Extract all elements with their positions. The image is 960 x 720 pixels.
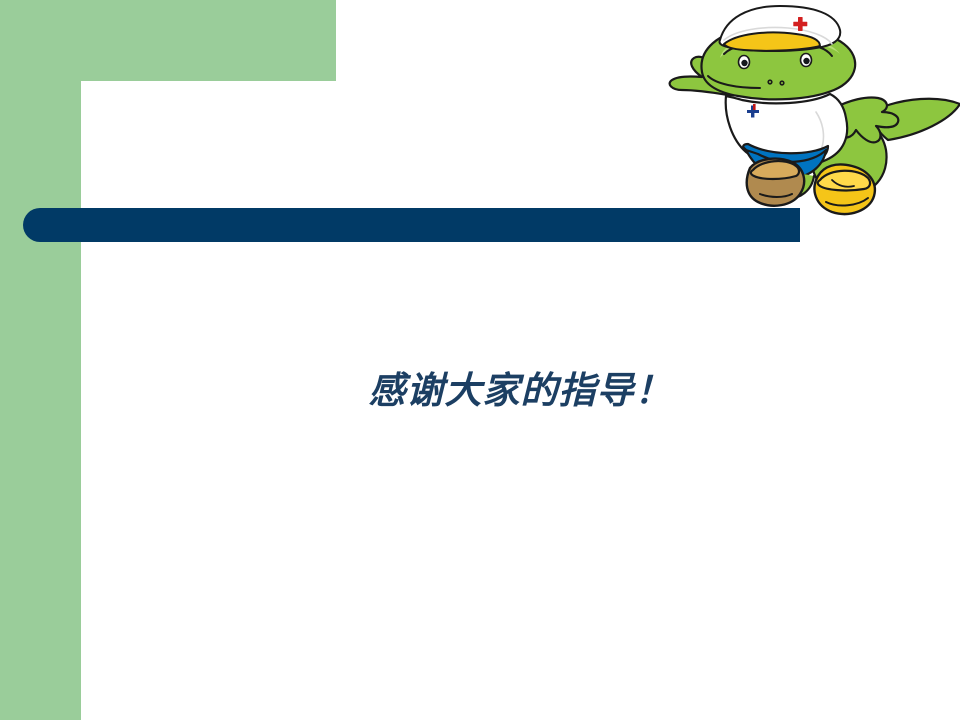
presentation-slide: 感谢大家的指导！ xyxy=(0,0,960,720)
green-left-strip xyxy=(0,0,81,720)
dinosaur-nurse-mascot-icon xyxy=(620,0,960,222)
slide-body-text: 感谢大家的指导！ xyxy=(81,368,960,416)
